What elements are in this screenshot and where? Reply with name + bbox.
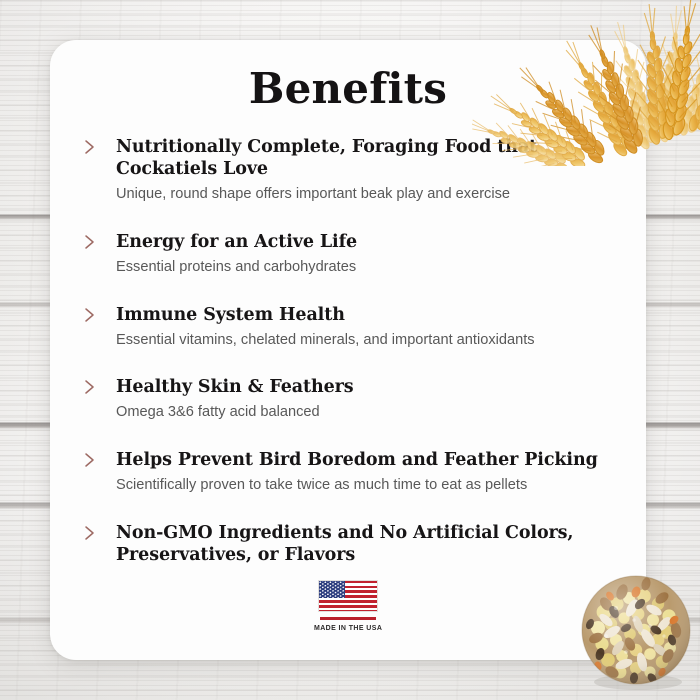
badge-caption: MADE IN THE USA	[314, 623, 382, 632]
benefit-subtext: Essential proteins and carbohydrates	[116, 258, 620, 278]
benefits-card: Benefits Nutritionally Complete, Foragin…	[50, 40, 646, 660]
product-benefits-infographic: Benefits Nutritionally Complete, Foragin…	[0, 0, 700, 700]
usa-flag-icon	[318, 580, 378, 612]
page-title: Benefits	[50, 64, 646, 113]
benefit-heading: Immune System Health	[116, 304, 620, 326]
list-item: Nutritionally Complete, Foraging Food th…	[80, 136, 620, 205]
badge-red-rule	[320, 617, 376, 620]
list-item: Energy for an Active Life Essential prot…	[80, 231, 620, 278]
benefit-subtext: Essential vitamins, chelated minerals, a…	[116, 331, 620, 351]
flag-canton	[319, 581, 345, 598]
flag-stars	[319, 581, 345, 598]
chevron-right-icon	[82, 450, 98, 470]
list-item: Healthy Skin & Feathers Omega 3&6 fatty …	[80, 376, 620, 423]
list-item: Immune System Health Essential vitamins,…	[80, 304, 620, 351]
benefit-subtext: Scientifically proven to take twice as m…	[116, 476, 620, 496]
benefit-heading: Healthy Skin & Feathers	[116, 376, 620, 398]
benefit-subtext: Unique, round shape offers important bea…	[116, 185, 620, 205]
benefits-list: Nutritionally Complete, Foraging Food th…	[80, 136, 620, 566]
chevron-right-icon	[82, 137, 98, 157]
chevron-right-icon	[82, 305, 98, 325]
benefit-heading: Nutritionally Complete, Foraging Food th…	[116, 136, 620, 180]
chevron-right-icon	[82, 232, 98, 252]
benefit-heading: Non-GMO Ingredients and No Artificial Co…	[116, 522, 620, 566]
chevron-right-icon	[82, 523, 98, 543]
list-item: Non-GMO Ingredients and No Artificial Co…	[80, 522, 620, 566]
made-in-usa-badge: MADE IN THE USA	[50, 580, 646, 632]
benefit-heading: Helps Prevent Bird Boredom and Feather P…	[116, 449, 620, 471]
chevron-right-icon	[82, 377, 98, 397]
benefit-heading: Energy for an Active Life	[116, 231, 620, 253]
list-item: Helps Prevent Bird Boredom and Feather P…	[80, 449, 620, 496]
benefit-subtext: Omega 3&6 fatty acid balanced	[116, 403, 620, 423]
